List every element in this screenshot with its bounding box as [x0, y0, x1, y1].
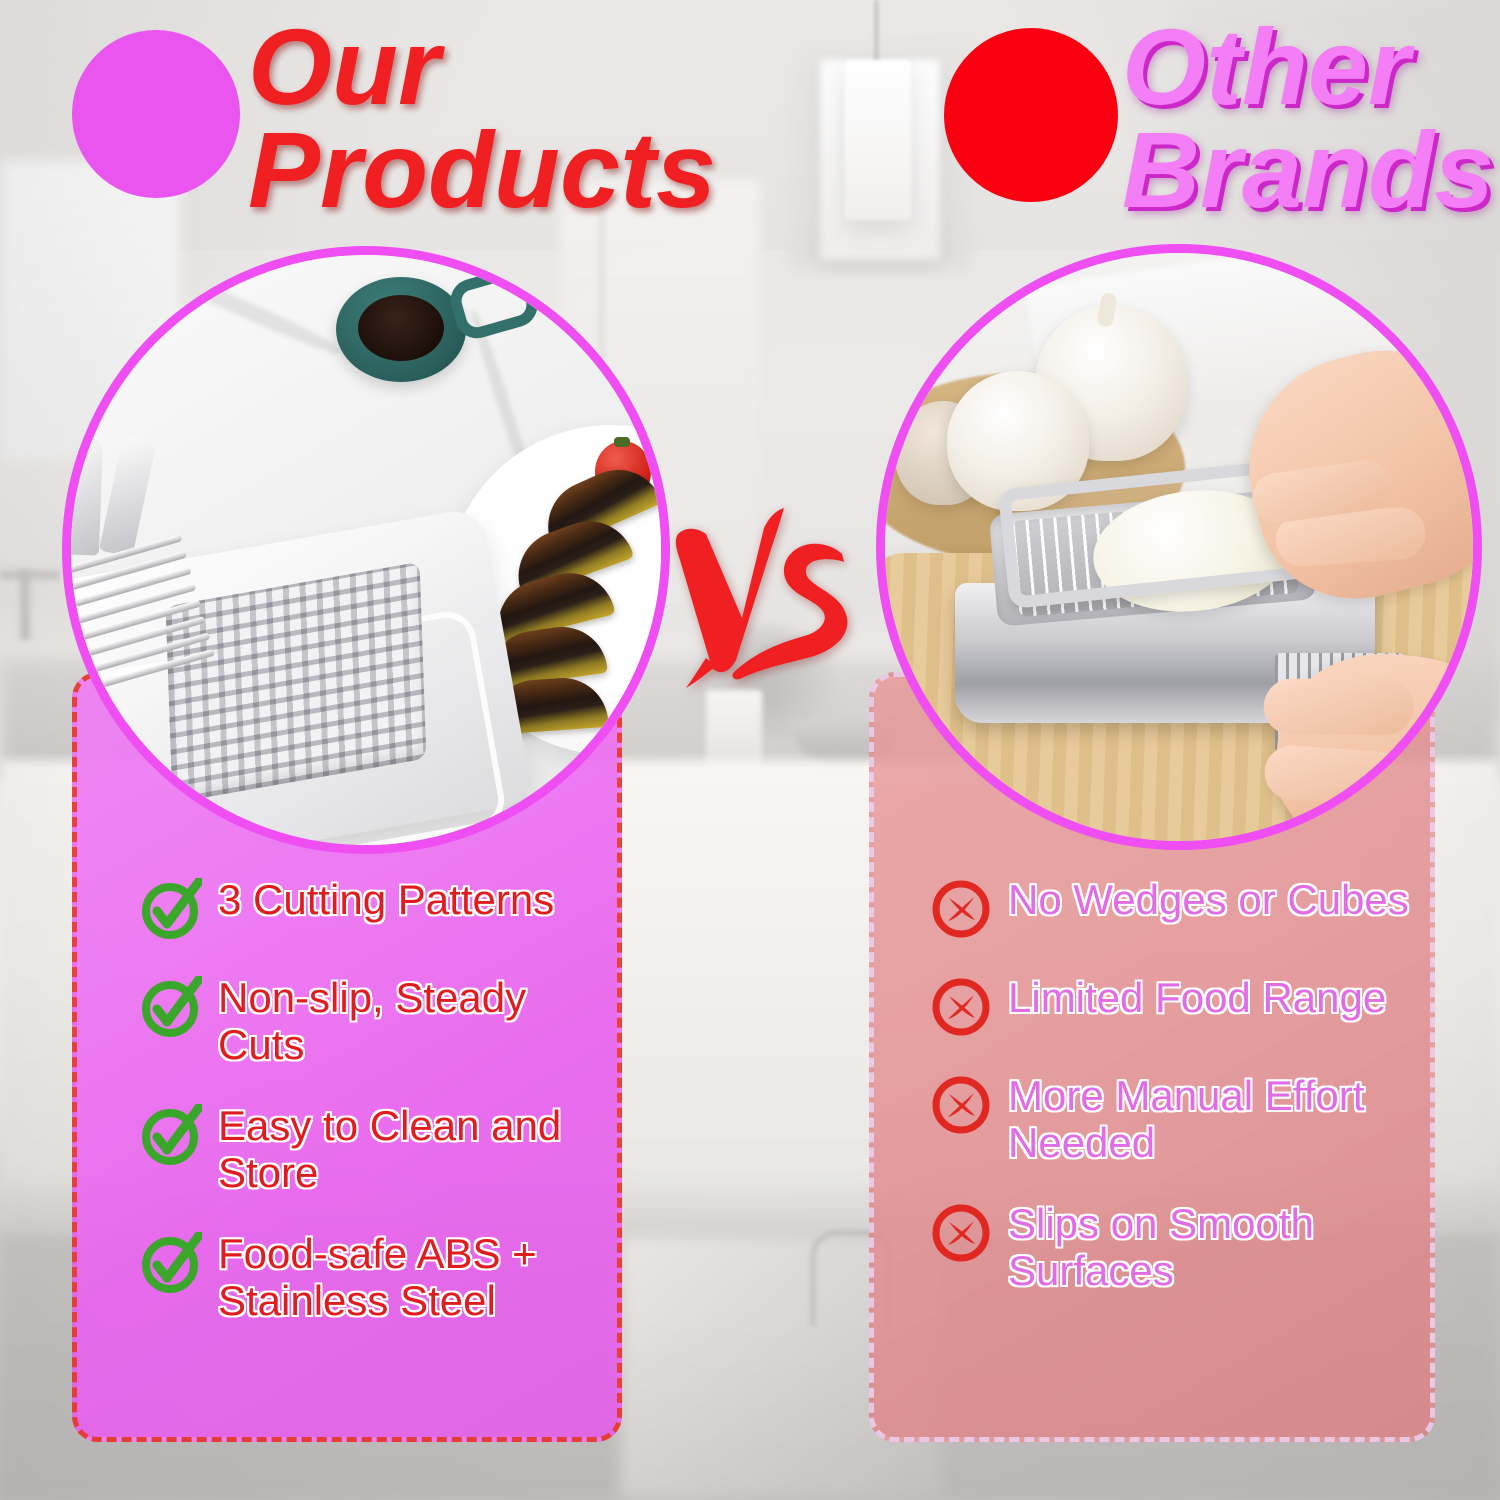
list-item-label: No Wedges or Cubes: [1008, 876, 1409, 923]
list-item: Non-slip, Steady Cuts: [140, 974, 610, 1068]
list-item-label: Limited Food Range: [1008, 974, 1386, 1021]
list-item: Food-safe ABS + Stainless Steel: [140, 1230, 610, 1324]
red-circle-bullet-icon: [944, 28, 1118, 202]
our-products-title: Our Products: [248, 16, 718, 221]
other-brands-drawback-list: No Wedges or Cubes Limited Food Range: [930, 876, 1410, 1328]
red-cross-circle-icon: [930, 1202, 992, 1264]
other-brands-title: Other Brands: [1122, 16, 1500, 221]
our-products-feature-list: 3 Cutting Patterns Non-slip, Steady Cuts…: [140, 876, 610, 1358]
list-item: More Manual Effort Needed: [930, 1072, 1410, 1166]
list-item-label: Food-safe ABS + Stainless Steel: [218, 1230, 610, 1324]
our-products-title-line2: Products: [248, 119, 718, 222]
list-item: Slips on Smooth Surfaces: [930, 1200, 1410, 1294]
red-cross-circle-icon: [930, 976, 992, 1038]
list-item-label: Non-slip, Steady Cuts: [218, 974, 610, 1068]
list-item-label: Easy to Clean and Store: [218, 1102, 610, 1196]
list-item-label: Slips on Smooth Surfaces: [1008, 1200, 1410, 1294]
soy-sauce: [358, 295, 444, 361]
tomato-stem: [614, 437, 630, 447]
list-item: No Wedges or Cubes: [930, 876, 1410, 940]
list-item: 3 Cutting Patterns: [140, 876, 610, 940]
finger: [1264, 679, 1414, 735]
green-check-circle-icon: [140, 976, 202, 1038]
other-brand-photo: [876, 244, 1482, 850]
comparison-infographic: Our Products Other Brands: [0, 0, 1500, 1500]
list-item: Easy to Clean and Store: [140, 1102, 610, 1196]
list-item: Limited Food Range: [930, 974, 1410, 1038]
finger: [1263, 744, 1406, 808]
green-check-circle-icon: [140, 1232, 202, 1294]
our-product-photo: [62, 246, 670, 854]
magenta-circle-bullet-icon: [72, 30, 240, 198]
red-cross-circle-icon: [930, 878, 992, 940]
green-check-circle-icon: [140, 878, 202, 940]
our-products-title-line1: Our: [248, 16, 718, 119]
list-item-label: 3 Cutting Patterns: [218, 876, 554, 923]
versus-badge: [672, 500, 852, 690]
green-check-circle-icon: [140, 1104, 202, 1166]
other-brands-title-line1: Other: [1122, 16, 1500, 119]
red-cross-circle-icon: [930, 1074, 992, 1136]
list-item-label: More Manual Effort Needed: [1008, 1072, 1410, 1166]
other-brands-title-line2: Brands: [1122, 119, 1500, 222]
